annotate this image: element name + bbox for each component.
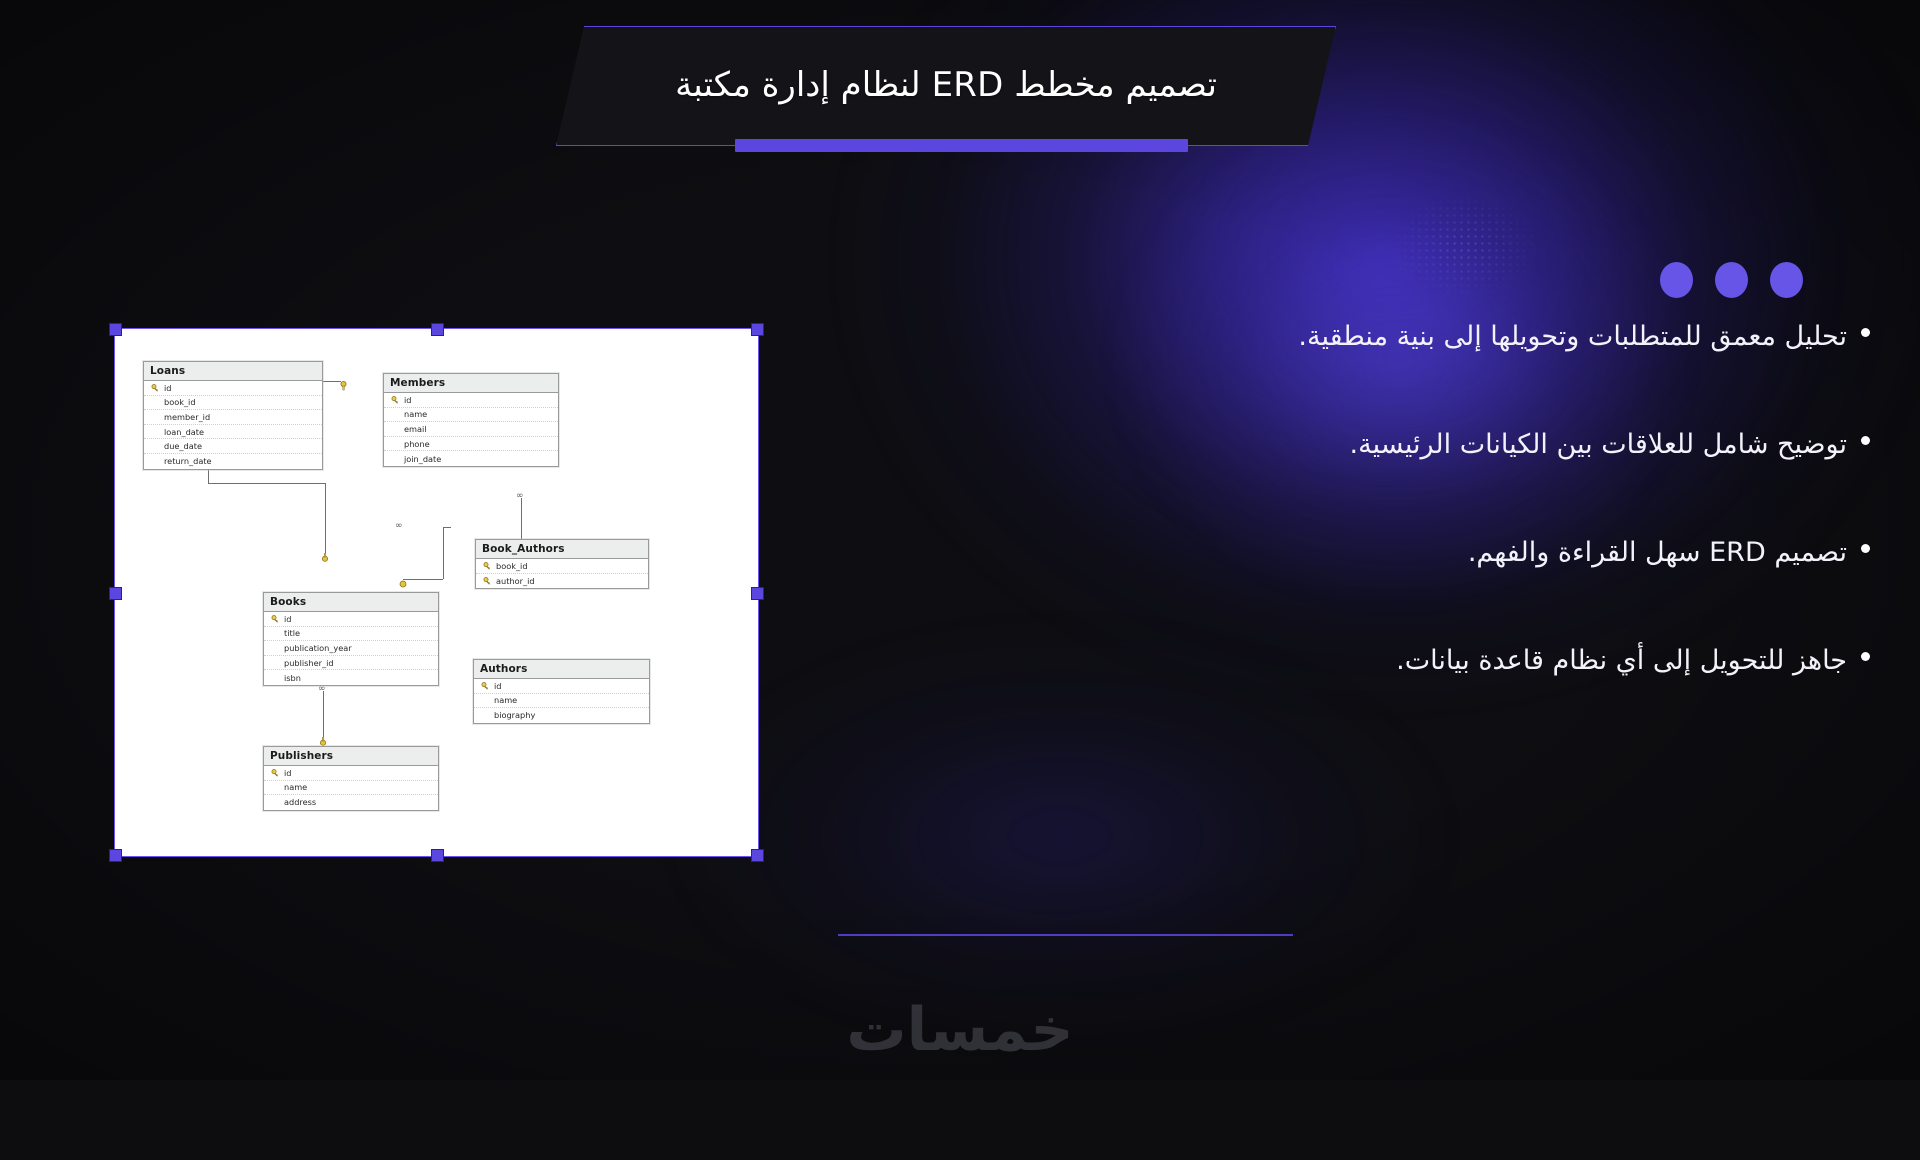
resize-handle-top-center[interactable] xyxy=(431,323,444,336)
erd-field-label: due_date xyxy=(161,441,202,451)
resize-handle-top-left[interactable] xyxy=(109,323,122,336)
erd-field-label: member_id xyxy=(161,412,210,422)
erd-table-title: Books xyxy=(264,593,438,612)
erd-table-title: Authors xyxy=(474,660,649,679)
list-item-label: توضيح شامل للعلاقات بين الكيانات الرئيسي… xyxy=(970,424,1847,466)
erd-field-label: id xyxy=(281,768,291,778)
erd-field-label: book_id xyxy=(493,561,528,571)
erd-field-row: id xyxy=(264,766,438,781)
primary-key-icon xyxy=(388,396,401,404)
erd-table-publishers[interactable]: Publishers id name address xyxy=(263,746,439,811)
erd-field-label: title xyxy=(281,628,300,638)
erd-table-loans[interactable]: Loans id book_id member_id loan_date xyxy=(143,361,323,470)
erd-field-row: name xyxy=(384,408,558,423)
page-title: تصميم مخطط ERD لنظام إدارة مكتبة xyxy=(556,26,1336,146)
erd-field-label: name xyxy=(281,782,307,792)
erd-table-authors[interactable]: Authors id name biography xyxy=(473,659,650,724)
erd-field-label: author_id xyxy=(493,576,535,586)
erd-field-row: email xyxy=(384,422,558,437)
footer-divider xyxy=(838,934,1293,936)
primary-key-icon xyxy=(478,682,491,690)
erd-field-label: loan_date xyxy=(161,427,204,437)
list-item-label: جاهز للتحويل إلى أي نظام قاعدة بيانات. xyxy=(970,640,1847,682)
erd-field-row: id xyxy=(474,679,649,694)
bullet-point-icon xyxy=(1861,652,1870,661)
title-underline-bar xyxy=(735,139,1188,152)
erd-field-row: phone xyxy=(384,437,558,452)
bullet-point-icon xyxy=(1861,544,1870,553)
relationship-endpoint-icon xyxy=(339,376,348,395)
erd-table-book-authors[interactable]: Book_Authors book_id author_id xyxy=(475,539,649,589)
relationship-line xyxy=(403,579,443,580)
erd-field-row: publisher_id xyxy=(264,656,438,671)
bullet-point-icon xyxy=(1861,328,1870,337)
primary-key-icon xyxy=(480,562,493,570)
relationship-line xyxy=(208,483,325,484)
erd-field-label: join_date xyxy=(401,454,441,464)
erd-field-row: id xyxy=(264,612,438,627)
bullet-point-icon xyxy=(1861,436,1870,445)
primary-key-icon xyxy=(268,769,281,777)
circle-dot-icon xyxy=(1770,262,1803,298)
erd-field-row: book_id xyxy=(476,559,648,574)
erd-field-row: isbn xyxy=(264,670,438,685)
primary-key-icon xyxy=(268,615,281,623)
relationship-line xyxy=(325,483,326,553)
erd-field-row: name xyxy=(264,781,438,796)
erd-field-label: email xyxy=(401,424,427,434)
erd-table-title: Loans xyxy=(144,362,322,381)
circle-dot-icon xyxy=(1715,262,1748,298)
erd-table-members[interactable]: Members id name email phone join xyxy=(383,373,559,467)
list-item: توضيح شامل للعلاقات بين الكيانات الرئيسي… xyxy=(970,424,1870,532)
erd-field-row: join_date xyxy=(384,451,558,466)
erd-field-label: publication_year xyxy=(281,643,352,653)
title-banner: تصميم مخطط ERD لنظام إدارة مكتبة xyxy=(556,26,1336,146)
primary-key-icon xyxy=(148,384,161,392)
erd-field-label: address xyxy=(281,797,316,807)
erd-field-label: return_date xyxy=(161,456,212,466)
resize-handle-middle-left[interactable] xyxy=(109,587,122,600)
erd-table-books[interactable]: Books id title publication_year publishe… xyxy=(263,592,439,686)
background-dot-pattern xyxy=(1360,170,1570,320)
primary-key-icon xyxy=(480,577,493,585)
erd-field-row: biography xyxy=(474,708,649,723)
erd-field-label: book_id xyxy=(161,397,196,407)
resize-handle-bottom-center[interactable] xyxy=(431,849,444,862)
erd-field-row: book_id xyxy=(144,396,322,411)
erd-diagram-object[interactable]: ∞ ∞ ∞ ∞ ∞ Loans xyxy=(114,328,759,857)
erd-field-row: publication_year xyxy=(264,641,438,656)
erd-field-row: id xyxy=(384,393,558,408)
erd-canvas: ∞ ∞ ∞ ∞ ∞ Loans xyxy=(115,329,758,856)
erd-field-label: phone xyxy=(401,439,430,449)
erd-field-row: address xyxy=(264,795,438,810)
erd-field-label: name xyxy=(401,409,427,419)
erd-field-label: name xyxy=(491,695,517,705)
erd-table-title: Publishers xyxy=(264,747,438,766)
list-item-label: تحليل معمق للمتطلبات وتحويلها إلى بنية م… xyxy=(970,316,1847,358)
erd-field-row: return_date xyxy=(144,454,322,469)
resize-handle-bottom-right[interactable] xyxy=(751,849,764,862)
erd-table-title: Book_Authors xyxy=(476,540,648,559)
crowfoot-marker: ∞ xyxy=(318,685,326,694)
circle-dot-icon xyxy=(1660,262,1693,298)
erd-field-label: isbn xyxy=(281,673,301,683)
erd-field-label: id xyxy=(491,681,501,691)
erd-field-row: title xyxy=(264,627,438,642)
relationship-endpoint-icon xyxy=(398,574,408,593)
relationship-line xyxy=(443,527,451,528)
erd-field-label: id xyxy=(401,395,411,405)
list-item: تحليل معمق للمتطلبات وتحويلها إلى بنية م… xyxy=(970,316,1870,424)
erd-field-row: loan_date xyxy=(144,425,322,440)
bullet-list: تحليل معمق للمتطلبات وتحويلها إلى بنية م… xyxy=(970,316,1870,748)
erd-field-label: biography xyxy=(491,710,535,720)
list-item: جاهز للتحويل إلى أي نظام قاعدة بيانات. xyxy=(970,640,1870,748)
erd-field-row: member_id xyxy=(144,410,322,425)
erd-field-row: due_date xyxy=(144,439,322,454)
list-item-label: تصميم ERD سهل القراءة والفهم. xyxy=(970,532,1847,574)
decorative-dots xyxy=(1660,262,1803,298)
list-item: تصميم ERD سهل القراءة والفهم. xyxy=(970,532,1870,640)
resize-handle-middle-right[interactable] xyxy=(751,587,764,600)
watermark-logo: خمسات xyxy=(0,995,1920,1065)
erd-field-label: publisher_id xyxy=(281,658,334,668)
crowfoot-marker: ∞ xyxy=(395,522,403,531)
erd-field-row: id xyxy=(144,381,322,396)
erd-field-row: name xyxy=(474,694,649,709)
crowfoot-marker: ∞ xyxy=(516,492,524,501)
resize-handle-top-right[interactable] xyxy=(751,323,764,336)
erd-table-title: Members xyxy=(384,374,558,393)
erd-field-row: author_id xyxy=(476,574,648,589)
relationship-endpoint-icon xyxy=(320,547,330,566)
relationship-line xyxy=(443,527,444,579)
erd-field-label: id xyxy=(161,383,171,393)
erd-field-label: id xyxy=(281,614,291,624)
resize-handle-bottom-left[interactable] xyxy=(109,849,122,862)
